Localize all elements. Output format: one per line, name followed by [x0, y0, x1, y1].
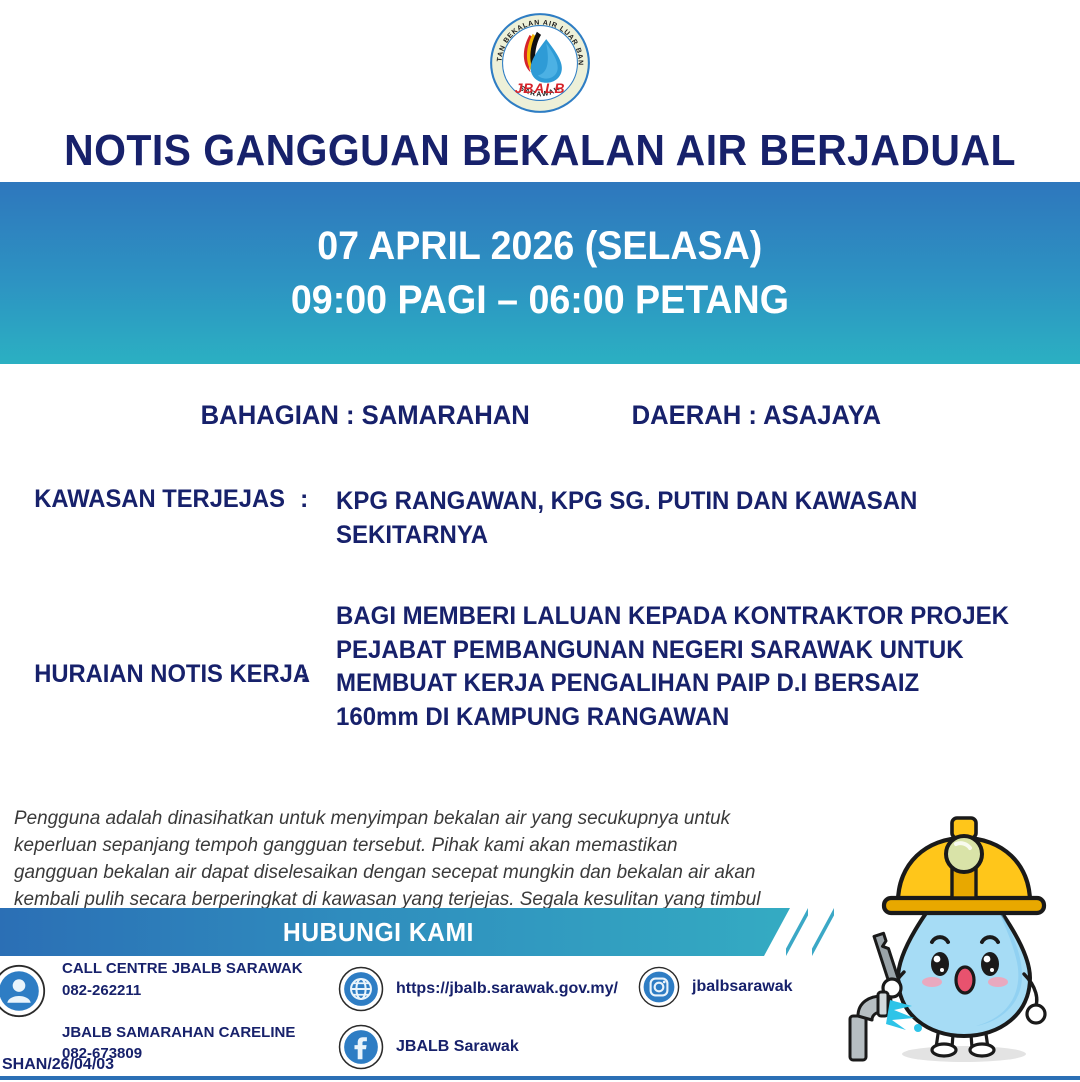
affected-area-label: KAWASAN TERJEJAS [0, 485, 285, 514]
administrative-row: BAHAGIAN : SAMARAHAN DAERAH : ASAJAYA [0, 400, 1080, 431]
online-contacts: https://jbalb.sarawak.gov.my/ JBALB Sara… [338, 966, 838, 1082]
work-description-line-3: MEMBUAT KERJA PENGALIHAN PAIP D.I BERSAI… [336, 667, 1050, 701]
person-icon [0, 964, 46, 1018]
call-centre-phone[interactable]: 082-262211 [62, 980, 340, 1002]
globe-icon [338, 966, 384, 1012]
notice-time: 09:00 PAGI – 06:00 PETANG [291, 273, 789, 327]
affected-area-colon: : [300, 485, 336, 514]
website-url[interactable]: https://jbalb.sarawak.gov.my/ [396, 980, 618, 998]
notice-poster: JABATAN BEKALAN AIR LUAR BANDAR SARAWAK … [0, 0, 1080, 1080]
decorative-slash-1 [786, 908, 808, 956]
svg-text:JBALB: JBALB [515, 80, 566, 96]
jbalb-logo-icon: JABATAN BEKALAN AIR LUAR BANDAR SARAWAK … [488, 11, 592, 115]
call-centre-block: CALL CENTRE JBALB SARAWAK 082-262211 [0, 958, 340, 1002]
affected-area-line-2: SEKITARNYA [336, 519, 1050, 553]
work-description-value: BAGI MEMBERI LALUAN KEPADA KONTRAKTOR PR… [336, 600, 1050, 734]
contact-banner-title: HUBUNGI KAMI [282, 917, 473, 948]
notice-date: 07 APRIL 2026 (SELASA) [317, 219, 762, 273]
affected-area-value: KPG RANGAWAN, KPG SG. PUTIN DAN KAWASAN … [336, 485, 1050, 552]
facebook-icon [338, 1024, 384, 1070]
date-time-banner: 07 APRIL 2026 (SELASA) 09:00 PAGI – 06:0… [0, 182, 1080, 364]
facebook-row[interactable]: JBALB Sarawak [338, 1024, 838, 1070]
instagram-handle[interactable]: jbalbsarawak [692, 978, 793, 996]
page-title: NOTIS GANGGUAN BEKALAN AIR BERJADUAL [38, 126, 1042, 176]
bottom-divider [0, 1076, 1080, 1080]
decorative-slash-2 [812, 908, 834, 956]
instagram-row[interactable]: jbalbsarawak [638, 966, 793, 1008]
phone-contacts: CALL CENTRE JBALB SARAWAK 082-262211 JBA… [0, 958, 340, 1065]
facebook-handle[interactable]: JBALB Sarawak [396, 1038, 519, 1056]
work-description-label: HURAIAN NOTIS KERJA [0, 600, 285, 689]
work-description-line-4: 160mm DI KAMPUNG RANGAWAN [336, 701, 1050, 735]
instagram-icon [638, 966, 680, 1008]
contact-banner: HUBUNGI KAMI [0, 908, 840, 956]
affected-area-line-1: KPG RANGAWAN, KPG SG. PUTIN DAN KAWASAN [336, 485, 1050, 519]
water-droplet-worker-mascot [836, 792, 1076, 1080]
work-description-line-1: BAGI MEMBERI LALUAN KEPADA KONTRAKTOR PR… [336, 600, 1050, 634]
district-label: DAERAH : ASAJAYA [632, 400, 881, 431]
jbalb-logo-container: JABATAN BEKALAN AIR LUAR BANDAR SARAWAK … [0, 8, 1080, 118]
contact-banner-body: HUBUNGI KAMI [0, 908, 790, 956]
affected-area-row: KAWASAN TERJEJAS : KPG RANGAWAN, KPG SG.… [0, 485, 1080, 552]
work-description-row: HURAIAN NOTIS KERJA : BAGI MEMBERI LALUA… [0, 600, 1080, 734]
call-centre-name: CALL CENTRE JBALB SARAWAK [62, 958, 340, 980]
careline-name: JBALB SAMARAHAN CARELINE [62, 1022, 340, 1044]
work-description-line-2: PEJABAT PEMBANGUNAN NEGERI SARAWAK UNTUK [336, 634, 1050, 668]
division-label: BAHAGIAN : SAMARAHAN [201, 400, 530, 431]
reference-number: SHAN/26/04/03 [2, 1056, 114, 1074]
